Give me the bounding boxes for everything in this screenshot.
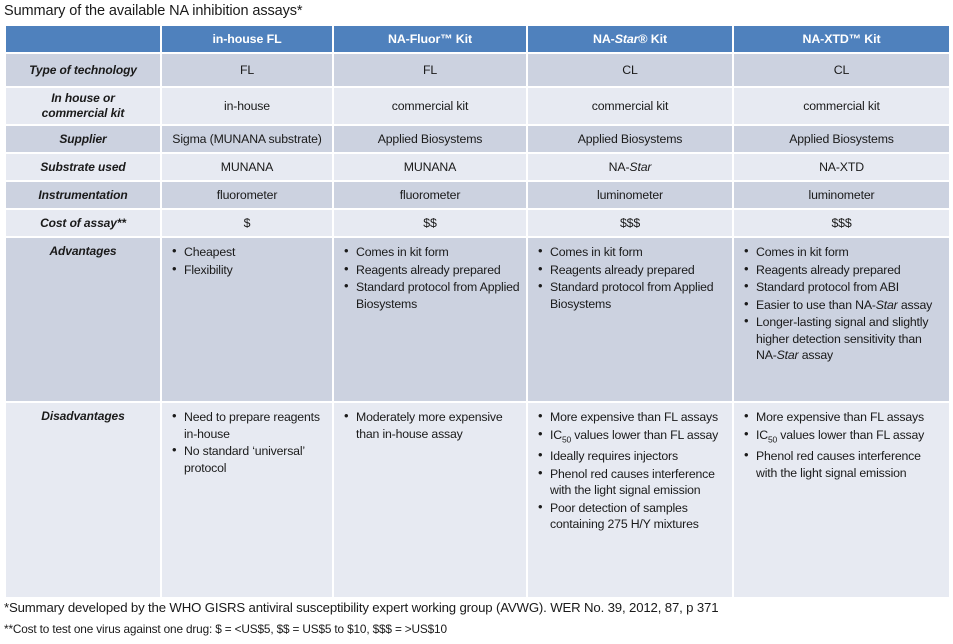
col-head-nastar-em: Star: [615, 32, 639, 46]
list-item: Poor detection of samples containing 275…: [550, 500, 728, 533]
cell-advantages-na-fluor: Comes in kit form Reagents already prepa…: [334, 238, 526, 401]
list-item: Standard protocol from Applied Biosystem…: [356, 279, 522, 312]
table-row-in-house-or-commercial-kit: In house orcommercial kit in-house comme…: [6, 88, 949, 124]
list-item: Standard protocol from Applied Biosystem…: [550, 279, 728, 312]
cell-disadvantages-na-xtd: More expensive than FL assays IC50 value…: [734, 403, 949, 597]
cell-instrumentation-in-house: fluorometer: [162, 182, 332, 208]
cell-substrate-na-fluor: MUNANA: [334, 154, 526, 180]
row-label-line-2: commercial kit: [42, 106, 125, 120]
cell-advantages-na-xtd: Comes in kit form Reagents already prepa…: [734, 238, 949, 401]
bullet-list: Moderately more expensive than in-house …: [334, 403, 526, 442]
row-label-cost-of-assay: Cost of assay**: [6, 210, 160, 236]
bullet-list: Comes in kit form Reagents already prepa…: [334, 238, 526, 312]
cell-tech-na-xtd: CL: [734, 54, 949, 86]
cell-advantages-in-house: Cheapest Flexibility: [162, 238, 332, 401]
cell-supplier-na-fluor: Applied Biosystems: [334, 126, 526, 152]
cell-cost-na-star: $$$: [528, 210, 732, 236]
cell-kit-in-house: in-house: [162, 88, 332, 124]
list-item: IC50 values lower than FL assay: [550, 427, 728, 448]
list-item: Easier to use than NA-Star assay: [756, 297, 945, 314]
table-row-advantages: Advantages Cheapest Flexibility Comes in…: [6, 238, 949, 401]
list-item: IC50 values lower than FL assay: [756, 427, 945, 448]
list-item: Reagents already prepared: [756, 262, 945, 279]
row-label-advantages: Advantages: [6, 238, 160, 401]
cell-instrumentation-na-xtd: luminometer: [734, 182, 949, 208]
footnote-cost-legend: **Cost to test one virus against one dru…: [4, 622, 447, 636]
cell-supplier-na-star: Applied Biosystems: [528, 126, 732, 152]
row-label-in-house-or-commercial-kit: In house orcommercial kit: [6, 88, 160, 124]
col-head-nastar-pre: NA-: [593, 32, 615, 46]
table-row-disadvantages: Disadvantages Need to prepare reagents i…: [6, 403, 949, 597]
cell-instrumentation-na-star: luminometer: [528, 182, 732, 208]
cell-disadvantages-na-fluor: Moderately more expensive than in-house …: [334, 403, 526, 597]
cell-supplier-na-xtd: Applied Biosystems: [734, 126, 949, 152]
header-corner-cell: [6, 26, 160, 52]
list-item: Need to prepare reagents in-house: [184, 409, 328, 442]
row-label-supplier: Supplier: [6, 126, 160, 152]
table-header-row: in-house FL NA-Fluor™ Kit NA-Star® Kit N…: [6, 26, 949, 52]
cell-substrate-na-star: NA-Star: [528, 154, 732, 180]
table-row-type-of-technology: Type of technology FL FL CL CL: [6, 54, 949, 86]
cell-substrate-na-xtd: NA-XTD: [734, 154, 949, 180]
list-item: Flexibility: [184, 262, 328, 279]
row-label-line-1: In house or: [51, 91, 115, 105]
bullet-list: More expensive than FL assays IC50 value…: [528, 403, 732, 533]
bullet-list: Comes in kit form Reagents already prepa…: [734, 238, 949, 364]
list-item: No standard ‘universal’ protocol: [184, 443, 328, 476]
list-item: Moderately more expensive than in-house …: [356, 409, 522, 442]
cell-cost-in-house: $: [162, 210, 332, 236]
list-item: Standard protocol from ABI: [756, 279, 945, 296]
row-label-substrate-used: Substrate used: [6, 154, 160, 180]
cell-advantages-na-star: Comes in kit form Reagents already prepa…: [528, 238, 732, 401]
row-label-disadvantages: Disadvantages: [6, 403, 160, 597]
list-item: Phenol red causes interference with the …: [756, 448, 945, 481]
slide-root: Summary of the available NA inhibition a…: [0, 0, 953, 644]
cell-kit-na-fluor: commercial kit: [334, 88, 526, 124]
cell-instrumentation-na-fluor: fluorometer: [334, 182, 526, 208]
cell-cost-na-xtd: $$$: [734, 210, 949, 236]
list-item: Comes in kit form: [756, 244, 945, 261]
cell-tech-na-star: CL: [528, 54, 732, 86]
list-item: More expensive than FL assays: [550, 409, 728, 426]
col-head-nastar-post: ® Kit: [638, 32, 667, 46]
bullet-list: Need to prepare reagents in-house No sta…: [162, 403, 332, 476]
cell-kit-na-xtd: commercial kit: [734, 88, 949, 124]
bullet-list: Cheapest Flexibility: [162, 238, 332, 278]
column-header-na-fluor-kit: NA-Fluor™ Kit: [334, 26, 526, 52]
table-row-cost-of-assay: Cost of assay** $ $$ $$$ $$$: [6, 210, 949, 236]
cell-tech-in-house: FL: [162, 54, 332, 86]
bullet-list: More expensive than FL assays IC50 value…: [734, 403, 949, 481]
footnote-source: *Summary developed by the WHO GISRS anti…: [4, 600, 718, 615]
list-item: Phenol red causes interference with the …: [550, 466, 728, 499]
table-row-instrumentation: Instrumentation fluorometer fluorometer …: [6, 182, 949, 208]
list-item: Cheapest: [184, 244, 328, 261]
column-header-na-star-kit: NA-Star® Kit: [528, 26, 732, 52]
column-header-na-xtd-kit: NA-XTD™ Kit: [734, 26, 949, 52]
assay-comparison-table: in-house FL NA-Fluor™ Kit NA-Star® Kit N…: [4, 24, 951, 599]
list-item: Ideally requires injectors: [550, 448, 728, 465]
cell-cost-na-fluor: $$: [334, 210, 526, 236]
cell-supplier-in-house: Sigma (MUNANA substrate): [162, 126, 332, 152]
list-item: Comes in kit form: [550, 244, 728, 261]
list-item: Longer-lasting signal and slightly highe…: [756, 314, 945, 364]
column-header-in-house-fl: in-house FL: [162, 26, 332, 52]
bullet-list: Comes in kit form Reagents already prepa…: [528, 238, 732, 312]
cell-tech-na-fluor: FL: [334, 54, 526, 86]
row-label-type-of-technology: Type of technology: [6, 54, 160, 86]
table-row-substrate-used: Substrate used MUNANA MUNANA NA-Star NA-…: [6, 154, 949, 180]
cell-substrate-in-house: MUNANA: [162, 154, 332, 180]
cell-disadvantages-in-house: Need to prepare reagents in-house No sta…: [162, 403, 332, 597]
list-item: More expensive than FL assays: [756, 409, 945, 426]
page-title: Summary of the available NA inhibition a…: [4, 2, 302, 20]
cell-kit-na-star: commercial kit: [528, 88, 732, 124]
row-label-instrumentation: Instrumentation: [6, 182, 160, 208]
list-item: Reagents already prepared: [356, 262, 522, 279]
table-row-supplier: Supplier Sigma (MUNANA substrate) Applie…: [6, 126, 949, 152]
list-item: Reagents already prepared: [550, 262, 728, 279]
list-item: Comes in kit form: [356, 244, 522, 261]
cell-disadvantages-na-star: More expensive than FL assays IC50 value…: [528, 403, 732, 597]
